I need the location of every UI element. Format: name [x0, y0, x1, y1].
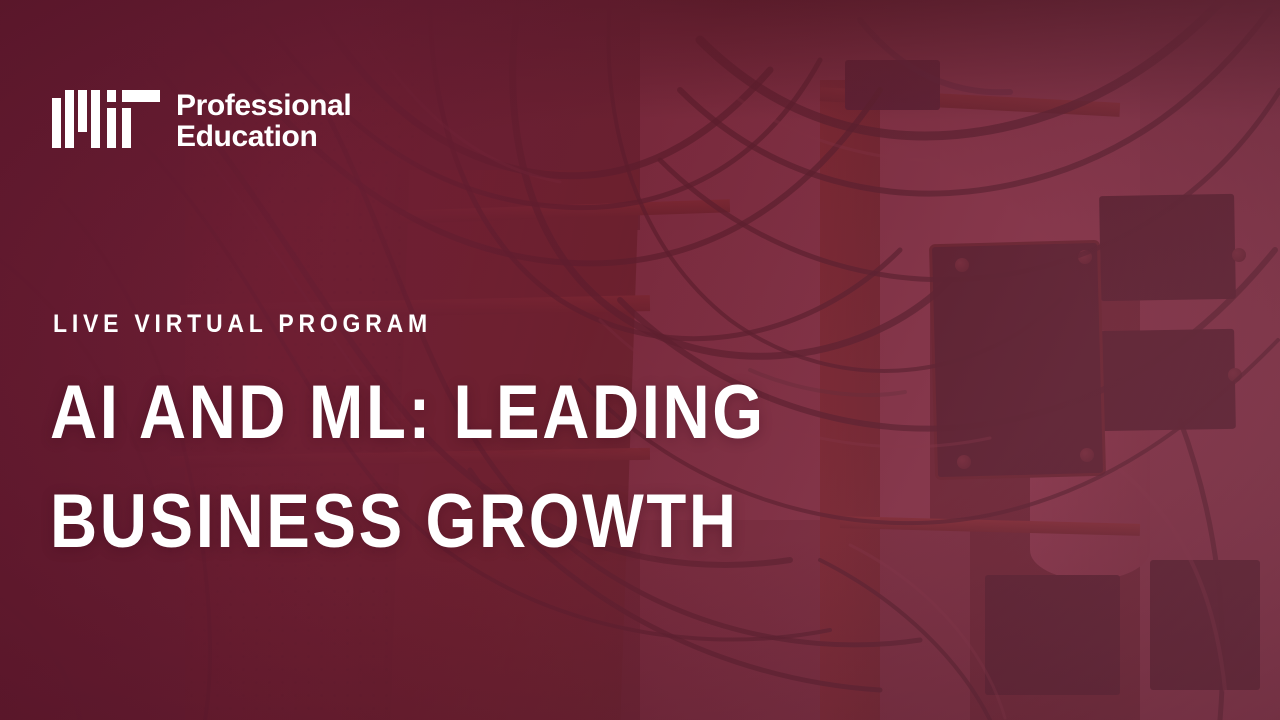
- page-title-line1: AI AND ML: LEADING: [50, 358, 766, 467]
- page-title-line2: BUSINESS GROWTH: [50, 467, 766, 576]
- overlay-content: Professional Education LIVE VIRTUAL PROG…: [0, 0, 1280, 720]
- program-format-eyebrow: LIVE VIRTUAL PROGRAM: [53, 310, 432, 339]
- logo-wordmark: Professional Education: [176, 90, 351, 152]
- mit-logo-mark-icon: [52, 90, 160, 148]
- page-title: AI AND ML: LEADING BUSINESS GROWTH: [50, 358, 766, 576]
- title-card: Professional Education LIVE VIRTUAL PROG…: [0, 0, 1280, 720]
- logo-wordmark-line2: Education: [176, 121, 351, 152]
- logo-wordmark-line1: Professional: [176, 90, 351, 121]
- mit-professional-education-logo: Professional Education: [52, 90, 351, 152]
